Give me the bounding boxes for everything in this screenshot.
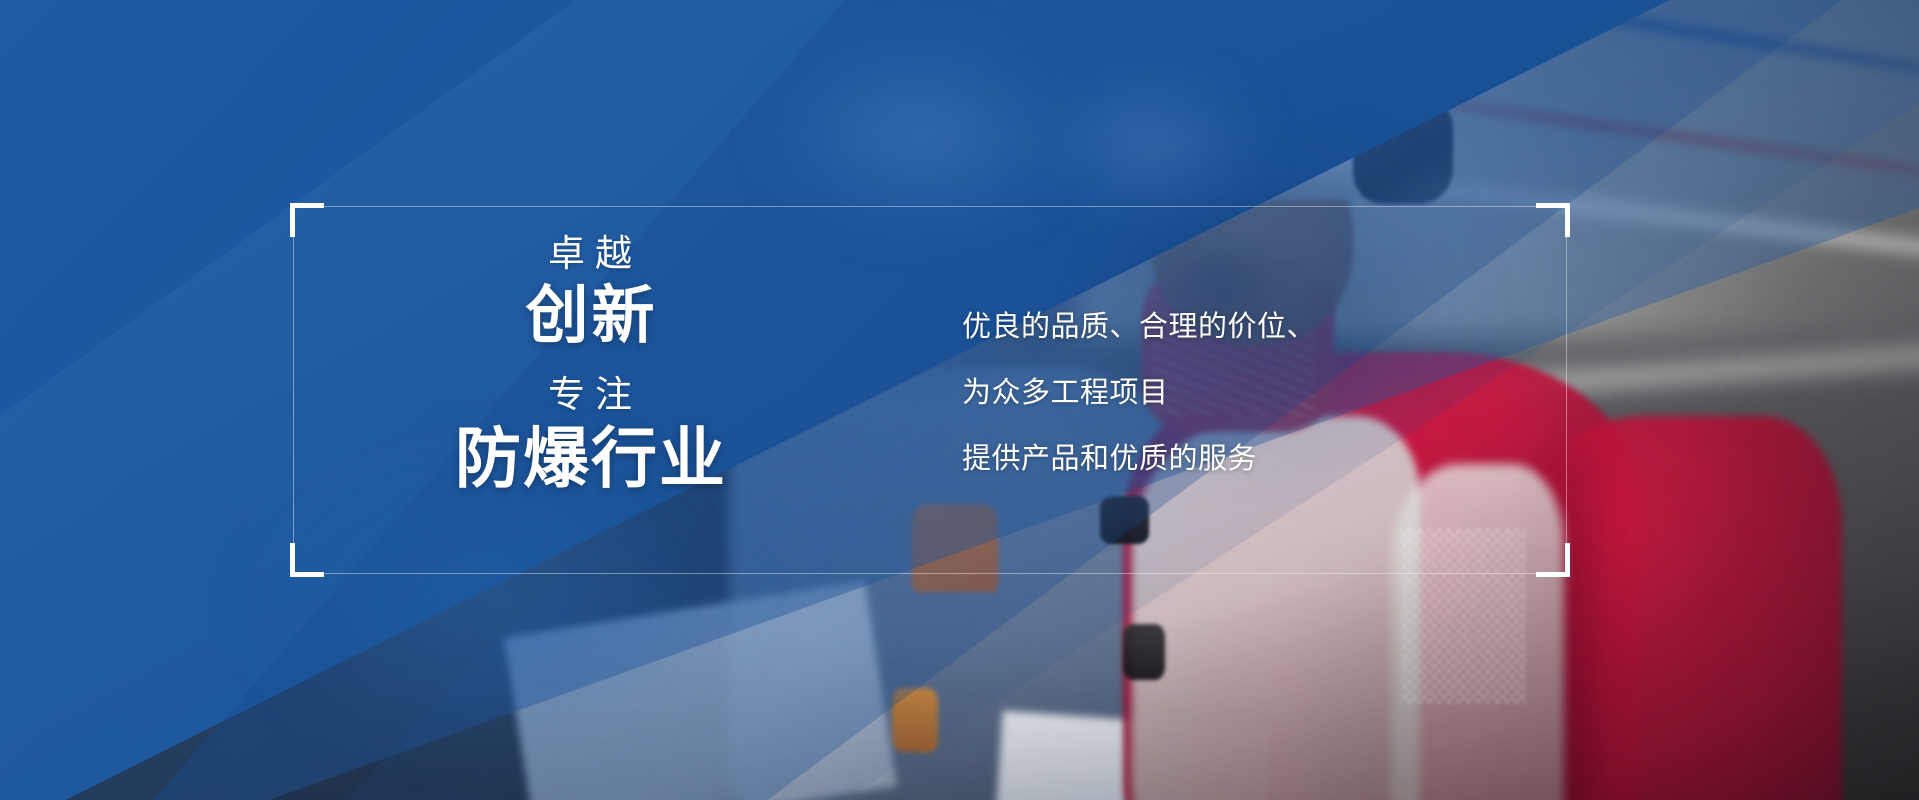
description-block: 优良的品质、合理的价位、 为众多工程项目 提供产品和优质的服务 [962, 313, 1316, 474]
headline-line-1-small: 卓越 [415, 232, 765, 276]
blue-highlight-bloom-a [768, 48, 1075, 224]
headline-line-2-big: 防爆行业 [415, 418, 765, 499]
description-line-1: 优良的品质、合理的价位、 [962, 313, 1316, 342]
headline-line-2-small: 专注 [415, 373, 765, 417]
hero-banner: 卓越 创新 专注 防爆行业 优良的品质、合理的价位、 为众多工程项目 提供产品和… [0, 0, 1919, 800]
description-line-2: 为众多工程项目 [962, 379, 1316, 408]
headline-block: 卓越 创新 专注 防爆行业 [415, 232, 765, 499]
headline-line-1-big: 创新 [415, 278, 765, 355]
blue-highlight-bloom-c [269, 464, 730, 736]
description-line-3: 提供产品和优质的服务 [962, 445, 1316, 474]
